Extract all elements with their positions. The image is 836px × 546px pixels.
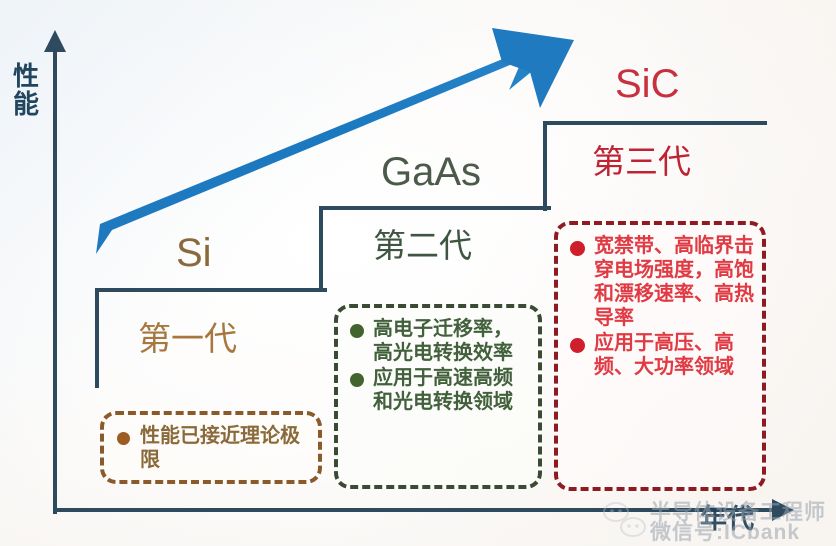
detail-text: 应用于高压、高频、大功率领域 <box>594 331 754 379</box>
bullet-icon <box>570 241 585 256</box>
generation-label-first: 第一代 <box>138 322 237 355</box>
detail-text: 高电子迁移率，高光电转换效率 <box>373 317 530 365</box>
x-axis-label: 年代 <box>700 506 754 533</box>
detail-box-generation-1: 性能已接近理论极限 <box>100 411 322 484</box>
list-item: 应用于高压、高频、大功率领域 <box>566 331 754 379</box>
detail-box-generation-2: 高电子迁移率，高光电转换效率 应用于高速高频和光电转换领域 <box>334 304 542 489</box>
diagram-canvas: 性能 年代 Si GaAs SiC 第一代 第二代 第三代 性能已接近理论极限 <box>0 0 836 546</box>
watermark-logo-icon <box>600 500 656 540</box>
bullet-icon <box>350 373 364 387</box>
material-label-si: Si <box>176 233 212 273</box>
list-item: 宽禁带、高临界击穿电场强度，高饱和漂移速率、高热导率 <box>566 234 754 330</box>
material-label-gaas: GaAs <box>381 152 481 192</box>
detail-text: 宽禁带、高临界击穿电场强度，高饱和漂移速率、高热导率 <box>594 234 754 330</box>
detail-text: 应用于高速高频和光电转换领域 <box>373 366 530 414</box>
list-item: 高电子迁移率，高光电转换效率 <box>346 317 530 365</box>
bullet-icon <box>117 432 130 445</box>
detail-text: 性能已接近理论极限 <box>140 424 308 472</box>
generation-label-third: 第三代 <box>592 145 691 178</box>
generation-label-second: 第二代 <box>373 229 472 262</box>
bullet-icon <box>350 324 364 338</box>
growth-arrow-icon <box>88 22 588 262</box>
list-item: 应用于高速高频和光电转换领域 <box>346 366 530 414</box>
y-axis-arrowhead-icon <box>44 30 66 52</box>
detail-box-generation-3: 宽禁带、高临界击穿电场强度，高饱和漂移速率、高热导率 应用于高压、高频、大功率领… <box>554 221 766 491</box>
x-axis-arrowhead-icon <box>772 499 794 521</box>
x-axis-line <box>53 508 783 512</box>
y-axis-label: 性能 <box>9 62 43 118</box>
y-axis-line <box>53 48 57 514</box>
list-item: 性能已接近理论极限 <box>114 424 308 472</box>
material-label-sic: SiC <box>615 64 679 104</box>
bullet-icon <box>570 338 585 353</box>
